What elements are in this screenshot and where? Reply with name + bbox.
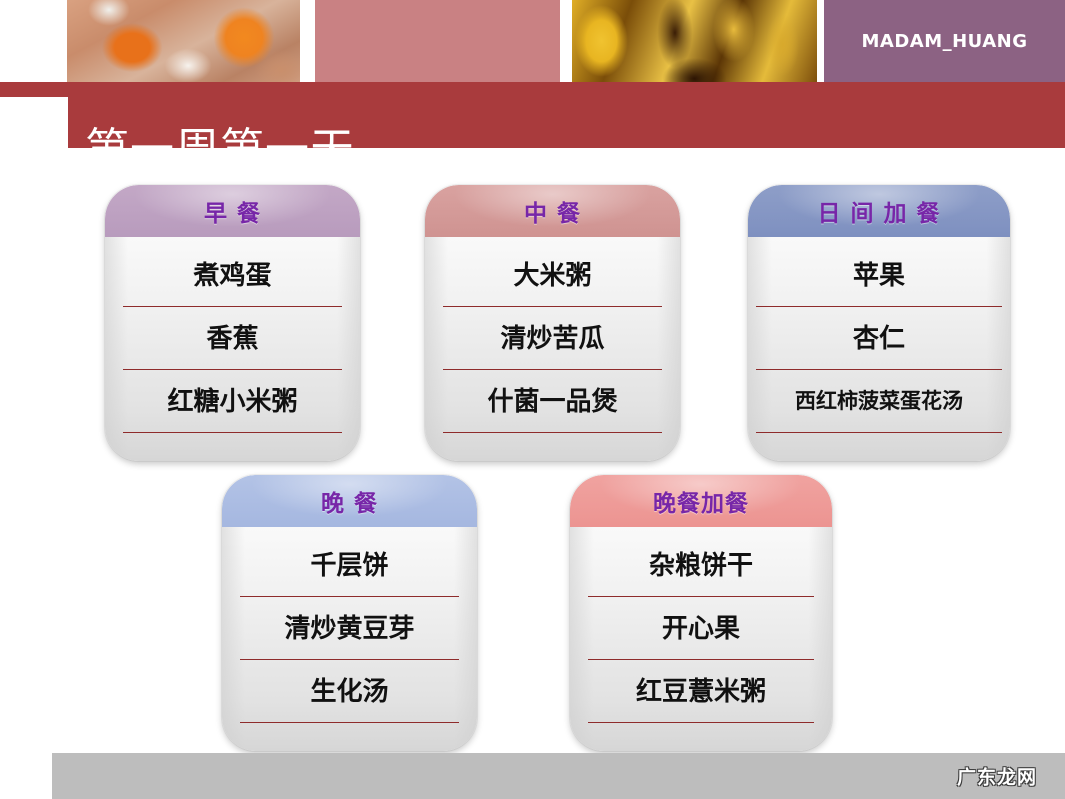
- meal-item-label: 清炒黄豆芽: [284, 616, 414, 642]
- fried-pastry-photo: [572, 0, 817, 82]
- meal-card-body: 煮鸡蛋 香蕉 红糖小米粥: [105, 237, 360, 461]
- meal-item[interactable]: 红糖小米粥: [123, 371, 342, 433]
- meal-item-label: 杂粮饼干: [649, 553, 753, 579]
- meal-card-inner: 早 餐 煮鸡蛋 香蕉 红糖小米粥: [105, 185, 360, 461]
- footer-bar: 广东龙网: [52, 753, 1065, 799]
- meal-card-header-dinner: 晚 餐: [222, 475, 477, 527]
- meal-item-label: 开心果: [662, 616, 740, 642]
- meal-item-label: 红豆薏米粥: [636, 679, 766, 705]
- meal-card-inner: 晚餐加餐 杂粮饼干 开心果 红豆薏米粥: [570, 475, 832, 751]
- meal-card-evening-snack[interactable]: 晚餐加餐 杂粮饼干 开心果 红豆薏米粥: [570, 475, 832, 751]
- meal-card-title: 晚餐加餐: [653, 484, 749, 518]
- footer-watermark: 广东龙网: [957, 763, 1037, 790]
- meal-item-label: 什菌一品煲: [487, 389, 617, 415]
- meal-item[interactable]: 清炒苦瓜: [443, 308, 662, 370]
- meal-item-label: 生化汤: [310, 679, 388, 705]
- meal-item[interactable]: 杏仁: [756, 308, 1002, 370]
- meal-card-body: 大米粥 清炒苦瓜 什菌一品煲: [425, 237, 680, 461]
- meal-item[interactable]: 红豆薏米粥: [588, 661, 814, 723]
- meal-item[interactable]: 清炒黄豆芽: [240, 598, 459, 660]
- meal-card-board: 早 餐 煮鸡蛋 香蕉 红糖小米粥 中 餐 大米粥: [0, 148, 1065, 753]
- meal-card-header-daytime-snack: 日 间 加 餐: [748, 185, 1010, 237]
- meal-card-header-lunch: 中 餐: [425, 185, 680, 237]
- meal-card-lunch[interactable]: 中 餐 大米粥 清炒苦瓜 什菌一品煲: [425, 185, 680, 461]
- meal-card-inner: 中 餐 大米粥 清炒苦瓜 什菌一品煲: [425, 185, 680, 461]
- meal-item[interactable]: 生化汤: [240, 661, 459, 723]
- meal-item-label: 清炒苦瓜: [500, 326, 604, 352]
- meal-card-title: 日 间 加 餐: [817, 194, 940, 228]
- meal-card-inner: 日 间 加 餐 苹果 杏仁 西红柿菠菜蛋花汤: [748, 185, 1010, 461]
- rose-color-block: [315, 0, 560, 82]
- meal-item[interactable]: 苹果: [756, 245, 1002, 307]
- meal-item[interactable]: 杂粮饼干: [588, 535, 814, 597]
- pumpkin-porridge-photo: [67, 0, 300, 82]
- meal-item-label: 煮鸡蛋: [193, 263, 271, 289]
- meal-item-label: 香蕉: [206, 326, 258, 352]
- meal-item-label: 苹果: [853, 263, 905, 289]
- top-banner: MADAM_HUANG: [0, 0, 1065, 82]
- meal-item-label: 杏仁: [853, 326, 905, 352]
- brand-block: MADAM_HUANG: [824, 0, 1065, 82]
- meal-card-dinner[interactable]: 晚 餐 千层饼 清炒黄豆芽 生化汤: [222, 475, 477, 751]
- meal-card-daytime-snack[interactable]: 日 间 加 餐 苹果 杏仁 西红柿菠菜蛋花汤: [748, 185, 1010, 461]
- brand-label: MADAM_HUANG: [861, 31, 1027, 52]
- meal-card-header-breakfast: 早 餐: [105, 185, 360, 237]
- meal-item[interactable]: 什菌一品煲: [443, 371, 662, 433]
- meal-item[interactable]: 千层饼: [240, 535, 459, 597]
- meal-card-title: 中 餐: [524, 194, 581, 228]
- meal-card-title: 早 餐: [204, 194, 261, 228]
- meal-card-inner: 晚 餐 千层饼 清炒黄豆芽 生化汤: [222, 475, 477, 751]
- meal-item[interactable]: 西红柿菠菜蛋花汤: [756, 371, 1002, 433]
- meal-item[interactable]: 香蕉: [123, 308, 342, 370]
- meal-card-header-evening-snack: 晚餐加餐: [570, 475, 832, 527]
- meal-card-breakfast[interactable]: 早 餐 煮鸡蛋 香蕉 红糖小米粥: [105, 185, 360, 461]
- meal-item[interactable]: 煮鸡蛋: [123, 245, 342, 307]
- meal-item-label: 千层饼: [310, 553, 388, 579]
- meal-item[interactable]: 大米粥: [443, 245, 662, 307]
- meal-item-label: 红糖小米粥: [167, 389, 297, 415]
- title-bar-notch: [0, 97, 68, 148]
- meal-item-label: 大米粥: [513, 263, 591, 289]
- meal-item[interactable]: 开心果: [588, 598, 814, 660]
- meal-card-body: 杂粮饼干 开心果 红豆薏米粥: [570, 527, 832, 751]
- meal-card-body: 千层饼 清炒黄豆芽 生化汤: [222, 527, 477, 751]
- meal-item-label: 西红柿菠菜蛋花汤: [795, 391, 963, 412]
- meal-card-body: 苹果 杏仁 西红柿菠菜蛋花汤: [748, 237, 1010, 461]
- meal-card-title: 晚 餐: [321, 484, 378, 518]
